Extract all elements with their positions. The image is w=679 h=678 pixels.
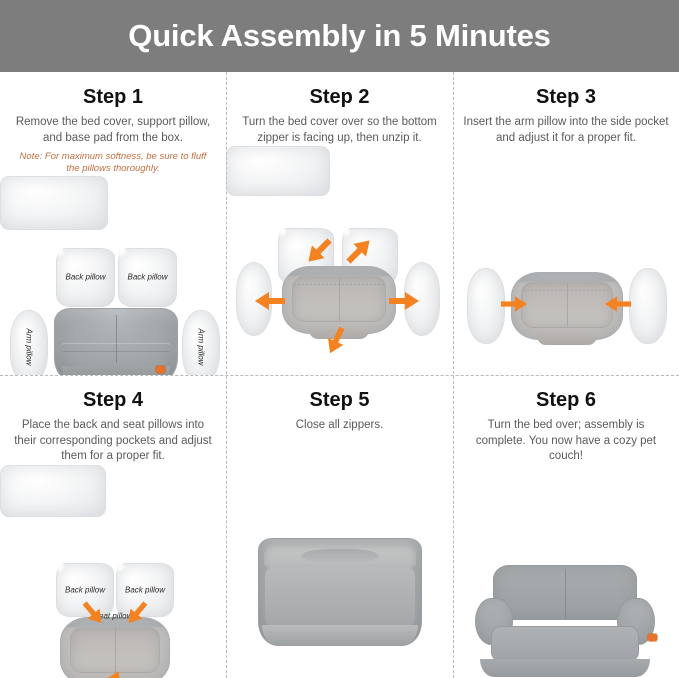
back-pillow-right-label: Back pillow	[117, 585, 173, 594]
brand-tag	[156, 366, 165, 373]
divider-horizontal	[0, 375, 679, 376]
step-panel-5: Step 5 Close all zippers.	[226, 375, 453, 678]
page-title: Quick Assembly in 5 Minutes	[128, 18, 550, 54]
arm-pillow-right	[629, 268, 667, 344]
header-banner: Quick Assembly in 5 Minutes	[0, 0, 679, 72]
bed-dip	[301, 549, 379, 563]
step-1-description: Remove the bed cover, support pillow, an…	[10, 115, 216, 146]
step-2-illustration	[226, 146, 453, 375]
step-5-illustration	[226, 434, 453, 678]
step-panel-1: Step 1 Remove the bed cover, support pil…	[0, 72, 226, 375]
cover-seam	[115, 628, 116, 672]
arrow-right-icon	[388, 292, 420, 310]
step-5-title: Step 5	[226, 389, 453, 412]
steps-grid: Step 1 Remove the bed cover, support pil…	[0, 72, 679, 678]
finished-pet-couch	[475, 565, 655, 677]
arrow-insert-left-icon	[501, 296, 527, 312]
step-6-description: Turn the bed over; assembly is complete.…	[463, 418, 669, 465]
cover-tail	[536, 333, 598, 345]
step-panel-3: Step 3 Insert the arm pillow into the si…	[453, 72, 679, 375]
step-panel-2: Step 2 Turn the bed cover over so the bo…	[226, 72, 453, 375]
cover-seam	[567, 284, 568, 328]
arrow-left-icon	[254, 292, 286, 310]
back-pillow-left-label: Back pillow	[57, 273, 114, 282]
step-4-illustration: Back pillow Back pillow Seat pillow	[0, 465, 226, 678]
couch-back-seam	[565, 569, 566, 618]
arm-pillow-left: Arm pillow	[10, 310, 48, 375]
arm-pillow-right-label: Arm pillow	[197, 317, 206, 375]
seat-pillow: Seat pillow	[0, 465, 106, 517]
base-pad	[0, 176, 108, 230]
cover-foot	[62, 366, 169, 375]
step-6-title: Step 6	[453, 389, 679, 412]
arrow-insert-right-icon	[605, 296, 631, 312]
bed-cover-inverted	[282, 266, 396, 334]
step-panel-6: Step 6 Turn the bed over; assembly is co…	[453, 375, 679, 678]
bed-base	[262, 625, 418, 644]
assembly-instruction-sheet: Quick Assembly in 5 Minutes Step 1 Remov…	[0, 0, 679, 678]
cover-seam	[339, 278, 340, 322]
back-pillow-right-label: Back pillow	[119, 273, 176, 282]
back-pillow-left: Back pillow	[56, 248, 115, 307]
couch-base	[480, 659, 649, 677]
step-1-note: Note: For maximum softness, be sure to f…	[16, 151, 210, 176]
arm-pillow-left	[467, 268, 505, 344]
back-pillow-left-label: Back pillow	[57, 585, 113, 594]
step-1-illustration: Back pillow Back pillow Arm pillow Arm p…	[0, 176, 226, 375]
assembled-bed-upside-down	[258, 538, 422, 646]
step-2-description: Turn the bed cover over so the bottom zi…	[236, 115, 443, 146]
step-3-illustration	[453, 146, 679, 375]
base-pad	[226, 146, 330, 196]
step-1-title: Step 1	[0, 86, 226, 109]
step-6-illustration	[453, 465, 679, 678]
step-2-title: Step 2	[226, 86, 453, 109]
step-5-description: Close all zippers.	[236, 418, 443, 434]
arm-pillow-right: Arm pillow	[182, 310, 220, 375]
step-3-description: Insert the arm pillow into the side pock…	[463, 115, 669, 146]
step-4-title: Step 4	[0, 389, 226, 412]
cover-lip	[60, 343, 172, 352]
brand-tag	[648, 634, 657, 641]
cover-seam	[116, 315, 117, 364]
arm-pillow-left-label: Arm pillow	[25, 317, 34, 375]
bed-cover	[54, 308, 178, 375]
couch-seat	[491, 626, 639, 662]
back-pillow-right: Back pillow	[118, 248, 177, 307]
step-3-title: Step 3	[453, 86, 679, 109]
step-4-description: Place the back and seat pillows into the…	[10, 418, 216, 465]
bed-face	[265, 566, 414, 628]
step-panel-4: Step 4 Place the back and seat pillows i…	[0, 375, 226, 678]
